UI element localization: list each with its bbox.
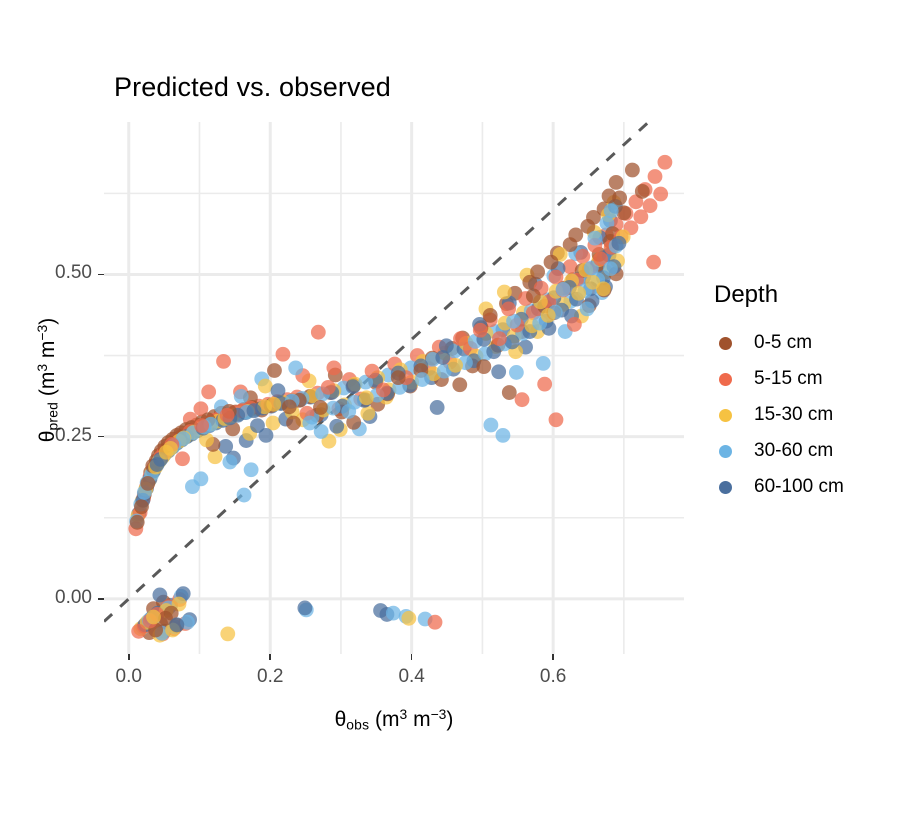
x-tick-mark [269, 654, 271, 660]
x-axis-units-mid: m [407, 708, 430, 731]
legend-item-label: 15-30 cm [754, 404, 833, 426]
legend-item-60-100-cm[interactable]: 60-100 cm [710, 469, 895, 505]
scatter-canvas [104, 122, 684, 654]
legend-item-0-5-cm[interactable]: 0-5 cm [710, 325, 895, 361]
legend-dot-icon [719, 373, 732, 386]
legend-swatch [710, 364, 740, 394]
legend-item-15-30-cm[interactable]: 15-30 cm [710, 397, 895, 433]
legend-swatch [710, 400, 740, 430]
x-tick-label: 0.6 [513, 666, 593, 688]
legend-items: 0-5 cm5-15 cm15-30 cm30-60 cm60-100 cm [710, 325, 895, 505]
x-tick-mark [128, 654, 130, 660]
x-tick-label: 0.2 [230, 666, 310, 688]
y-axis-units-mid: m [36, 341, 59, 364]
legend-swatch [710, 328, 740, 358]
x-axis-title: θobs (m3 m−3) [0, 706, 788, 732]
y-tick-mark [98, 436, 104, 438]
y-axis-units-pre: (m [36, 372, 59, 402]
legend-item-label: 60-100 cm [754, 476, 844, 498]
legend-item-label: 0-5 cm [754, 332, 812, 354]
x-tick-label: 0.4 [372, 666, 452, 688]
y-axis-units-post: ) [36, 318, 59, 325]
x-axis-units-post: ) [446, 708, 453, 731]
y-axis-symbol: θ [36, 431, 59, 443]
legend-dot-icon [719, 337, 732, 350]
x-tick-mark [552, 654, 554, 660]
x-tick-label: 0.0 [89, 666, 169, 688]
legend-item-label: 30-60 cm [754, 440, 833, 462]
x-axis-symbol: θ [335, 708, 347, 731]
legend-item-label: 5-15 cm [754, 368, 823, 390]
legend-item-5-15-cm[interactable]: 5-15 cm [710, 361, 895, 397]
page-title: Predicted vs. observed [114, 72, 391, 103]
y-axis-sup2: −3 [34, 325, 50, 341]
legend-dot-icon [719, 445, 732, 458]
legend-swatch [710, 436, 740, 466]
legend-title: Depth [714, 281, 895, 309]
legend: Depth 0-5 cm5-15 cm15-30 cm30-60 cm60-10… [710, 281, 895, 505]
y-tick-mark [98, 598, 104, 600]
scatter-points [128, 155, 672, 643]
legend-dot-icon [719, 409, 732, 422]
chart-root: Predicted vs. observed 0.00.20.40.6 0.00… [0, 0, 900, 825]
x-axis-subscript: obs [346, 716, 369, 732]
legend-dot-icon [719, 481, 732, 494]
y-tick-mark [98, 274, 104, 276]
y-axis-sup1: 3 [34, 364, 50, 372]
y-axis-title: θpred (m3 m−3) [34, 114, 60, 646]
plot-panel [104, 122, 684, 654]
x-axis-units-pre: (m [369, 708, 399, 731]
x-tick-mark [411, 654, 413, 660]
legend-swatch [710, 472, 740, 502]
y-axis-subscript: pred [44, 402, 60, 431]
legend-item-30-60-cm[interactable]: 30-60 cm [710, 433, 895, 469]
x-axis-sup2: −3 [431, 706, 447, 722]
